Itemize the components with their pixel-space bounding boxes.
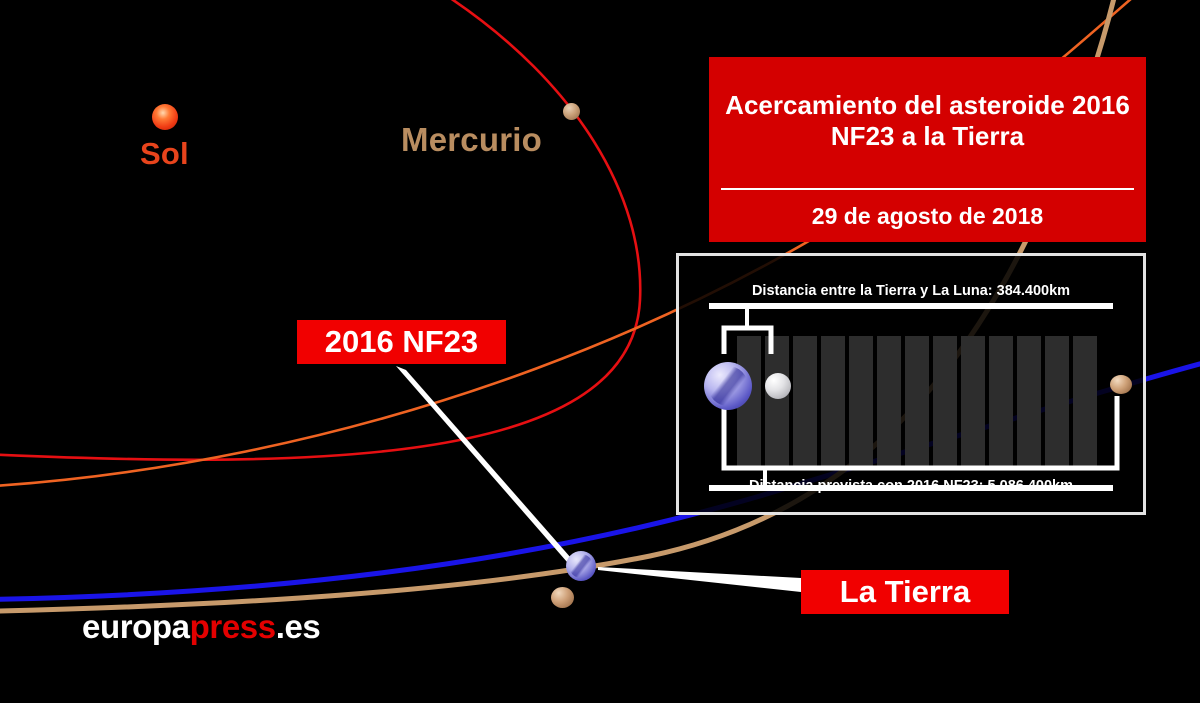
- leader-line-earth: [598, 567, 801, 592]
- inset-moon-body: [765, 373, 791, 399]
- earth-body: [566, 551, 596, 581]
- distance-comparison-panel: Distancia entre la Tierra y La Luna: 384…: [676, 253, 1146, 515]
- asteroid-callout-tag: 2016 NF23: [297, 320, 506, 364]
- sun-body: [152, 104, 178, 130]
- mercurio-orbit-path: [0, 0, 640, 460]
- title-date: 29 de agosto de 2018: [709, 190, 1146, 242]
- inset-earth-body: [704, 362, 752, 410]
- inset-bottom-caption: Distancia prevista con 2016 NF23: 5.086.…: [679, 478, 1143, 494]
- logo-part-domain: .es: [276, 608, 321, 645]
- title-block: Acercamiento del asteroide 2016 NF23 a l…: [709, 57, 1146, 242]
- lunar-distance-bars: [737, 336, 1097, 468]
- inset-asteroid-body: [1110, 375, 1132, 394]
- sun-label: Sol: [140, 136, 189, 172]
- leader-line-asteroid: [396, 366, 578, 570]
- logo-part-europa: europa: [82, 608, 190, 645]
- page-title: Acercamiento del asteroide 2016 NF23 a l…: [709, 57, 1146, 188]
- earth-callout-tag: La Tierra: [801, 570, 1009, 614]
- infographic-canvas: Sol Mercurio 2016 NF23 La Tierra Acercam…: [0, 0, 1200, 703]
- top-measure-bracket: [709, 306, 1113, 328]
- europapress-logo: europapress.es: [82, 608, 320, 646]
- asteroid-body: [551, 587, 574, 608]
- logo-part-press: press: [190, 608, 276, 645]
- mercury-label: Mercurio: [401, 121, 542, 159]
- mercury-body: [563, 103, 580, 120]
